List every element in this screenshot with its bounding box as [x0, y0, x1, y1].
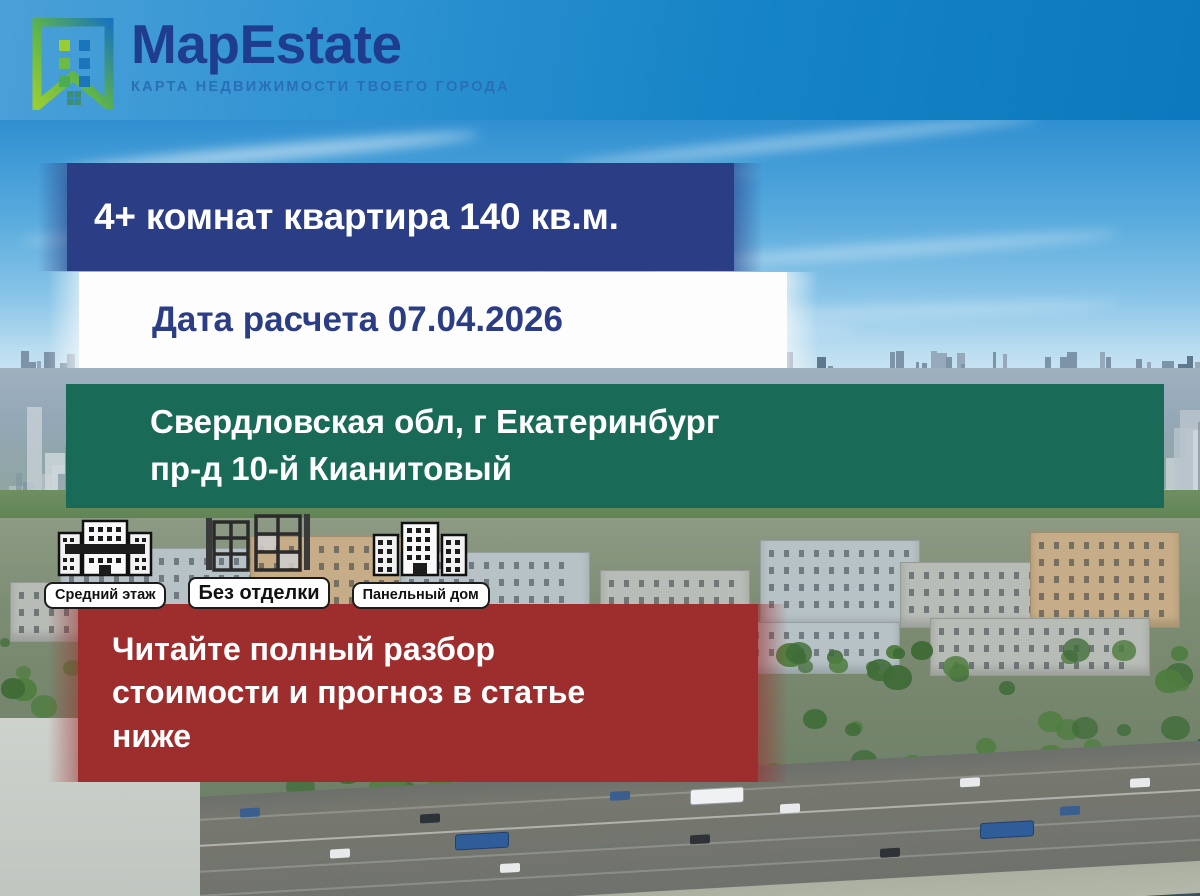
- feature-badges: Средний этаж: [44, 512, 490, 609]
- cta-text: Читайте полный разбор стоимости и прогно…: [48, 628, 788, 759]
- brand-tagline: КАРТА НЕДВИЖИМОСТИ ТВОЕГО ГОРОДА: [131, 79, 510, 95]
- brand-title: MapEstate: [131, 17, 510, 72]
- panel-house-icon: [372, 517, 470, 579]
- cta-line-1: Читайте полный разбор: [112, 628, 788, 672]
- feature-label-mid-floor: Средний этаж: [44, 582, 166, 609]
- feature-label-panel-house: Панельный дом: [352, 582, 490, 609]
- property-banner: 4+ комнат квартира 140 кв.м.: [38, 163, 763, 271]
- calculation-date-text: Дата расчета 07.04.2026: [48, 300, 818, 340]
- feature-panel-house: Панельный дом: [352, 517, 490, 609]
- feature-mid-floor: Средний этаж: [44, 517, 166, 609]
- calculation-date-banner: Дата расчета 07.04.2026: [48, 272, 818, 368]
- cta-line-2: стоимости и прогноз в статье: [112, 671, 788, 715]
- address-line-2: пр-д 10-й Кианитовый: [150, 446, 1164, 493]
- unfinished-construction-icon: [200, 512, 318, 574]
- address-banner: Свердловская обл, г Екатеринбург пр-д 10…: [66, 384, 1164, 508]
- header: MapEstate КАРТА НЕДВИЖИМОСТИ ТВОЕГО ГОРО…: [0, 0, 1200, 120]
- feature-unfinished: Без отделки: [188, 512, 329, 609]
- brand: MapEstate КАРТА НЕДВИЖИМОСТИ ТВОЕГО ГОРО…: [131, 17, 510, 95]
- cta-line-3: ниже: [112, 715, 788, 759]
- property-banner-text: 4+ комнат квартира 140 кв.м.: [38, 196, 763, 238]
- cta-banner: Читайте полный разбор стоимости и прогно…: [48, 604, 788, 782]
- address-text: Свердловская обл, г Екатеринбург пр-д 10…: [66, 399, 1164, 493]
- mid-floor-building-icon: [57, 517, 153, 579]
- feature-label-unfinished: Без отделки: [188, 577, 329, 609]
- address-line-1: Свердловская обл, г Екатеринбург: [150, 399, 1164, 446]
- poster: MapEstate КАРТА НЕДВИЖИМОСТИ ТВОЕГО ГОРО…: [0, 0, 1200, 896]
- logo-bookmark-building-icon: [31, 18, 115, 110]
